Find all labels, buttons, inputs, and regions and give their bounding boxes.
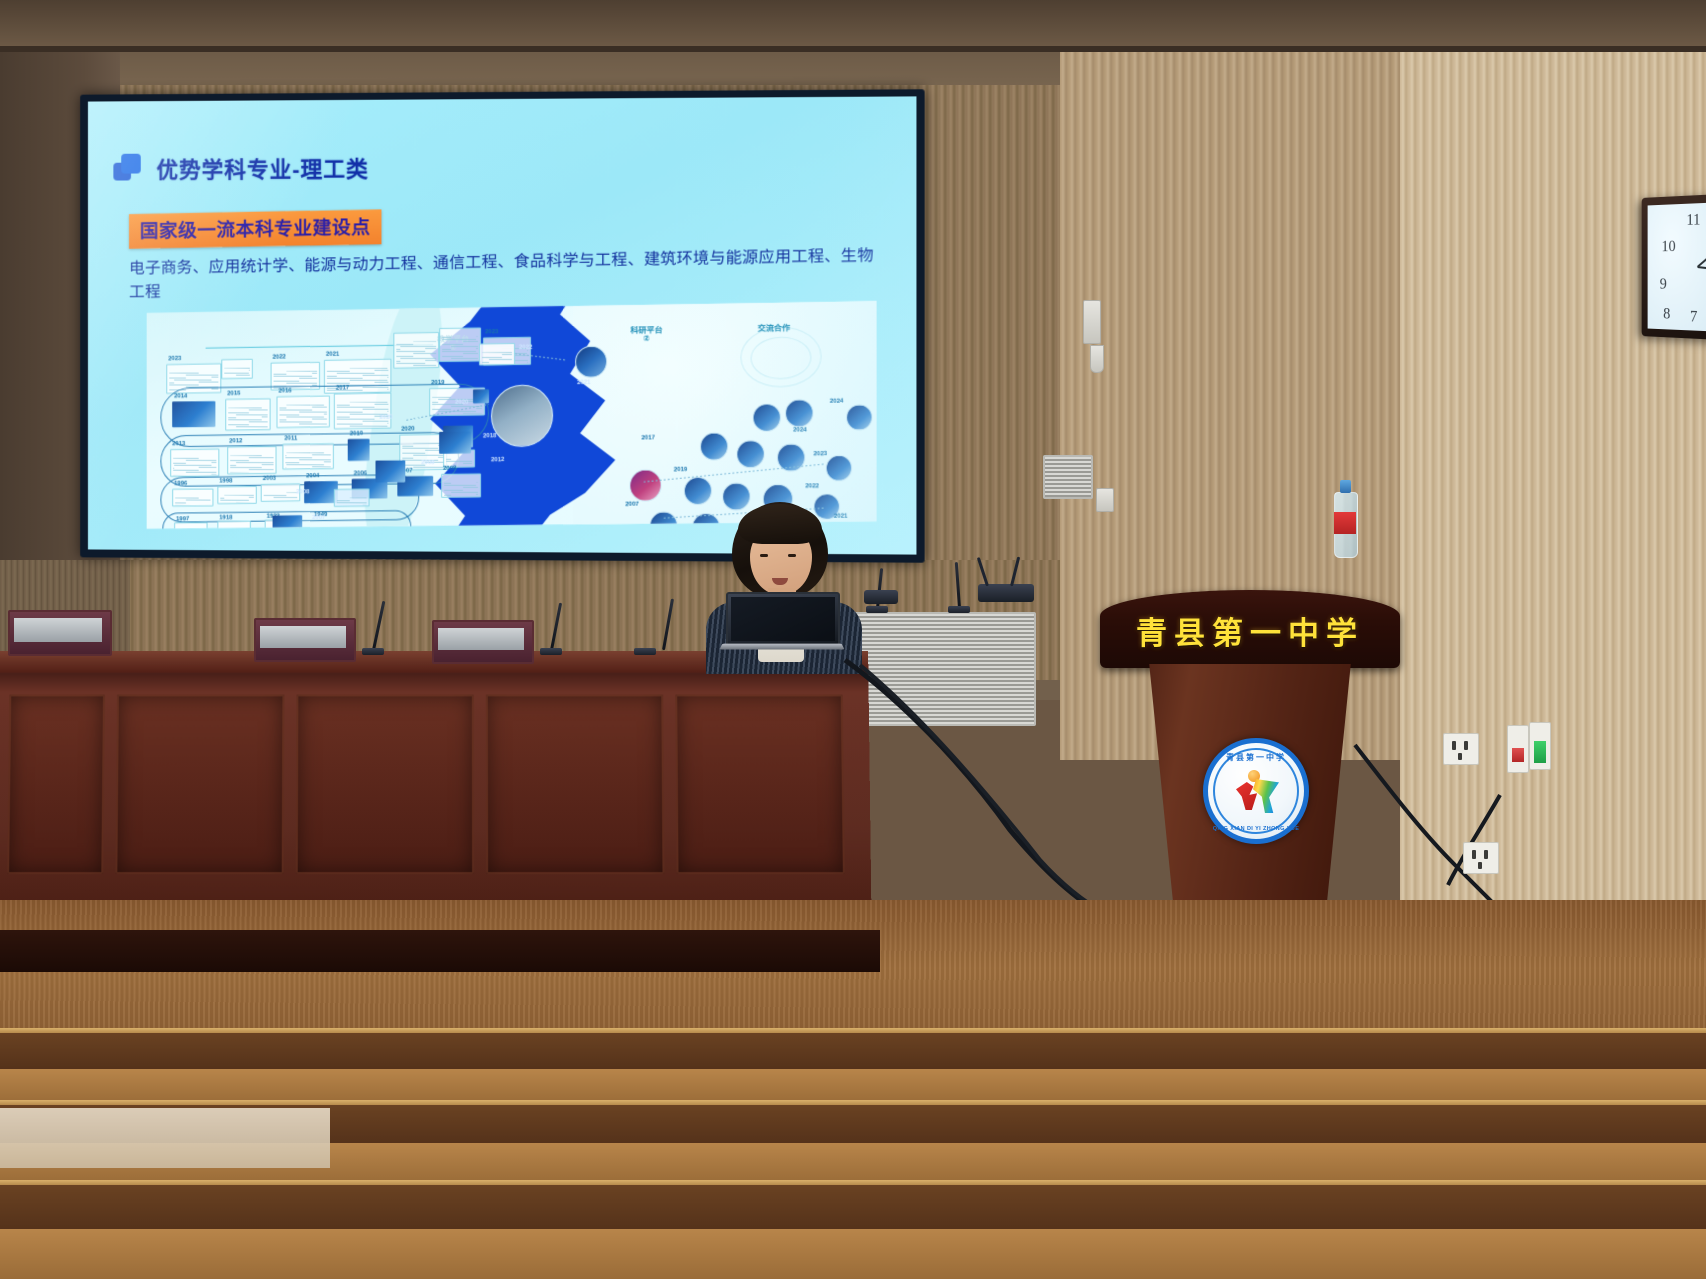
square-blocks-icon [113,154,142,184]
clock-number-9: 9 [1660,276,1667,294]
slide-header: 优势学科专业-理工类 [113,152,369,185]
step-tread-1 [0,1069,1706,1103]
clock-number-10: 10 [1661,238,1675,256]
section-label-research: 科研平台② [629,327,663,344]
clock-number-7: 7 [1690,308,1697,326]
seat-cushion-3 [438,628,524,650]
table-shadow-apron [0,930,880,972]
emblem-figure-icon [1234,770,1278,814]
presentation-slide: 优势学科专业-理工类 国家级一流本科专业建设点 电子商务、应用统计学、能源与动力… [88,96,916,554]
step-tread-3 [0,1229,1706,1279]
floor-light-patch [0,1108,330,1168]
projection-screen[interactable]: 优势学科专业-理工类 国家级一流本科专业建设点 电子商务、应用统计学、能源与动力… [80,89,924,562]
switch-plate-green[interactable] [1529,722,1551,770]
power-outlet-upper[interactable] [1443,733,1479,765]
wall-switch-plate[interactable] [1096,488,1114,512]
seat-cushion-1 [14,618,102,642]
emblem-arc-bottom-text: QING XIAN DI YI ZHONG XUE [1208,826,1304,832]
power-outlet-lower[interactable] [1463,842,1499,874]
clock-face: 11 10 9 8 7 [1648,202,1706,331]
slide-title: 优势学科专业-理工类 [156,152,368,185]
school-emblem: 青县第一中学 QING XIAN DI YI ZHONG XUE [1203,738,1309,844]
podium-school-name: 青县第一中学 [1100,608,1400,653]
water-bottle[interactable] [1334,478,1356,556]
switch-plate-red[interactable] [1507,725,1529,773]
clock-number-8: 8 [1663,306,1670,324]
timeline-infographic: 教学平台① 科研平台② 交流合作 2023 2022 2021 2023 201… [147,301,877,529]
microphone-base-1 [362,648,384,655]
ceiling-band [0,0,1706,48]
step-riser-3 [0,1185,1706,1229]
step-riser-1 [0,1033,1706,1069]
wall-slat-panel-far-right [1400,0,1706,940]
clock-number-11: 11 [1686,211,1700,230]
wall-sensor-lower [1090,345,1104,373]
wall-sensor [1083,300,1101,344]
slide-body-text: 电子商务、应用统计学、能源与动力工程、通信工程、食品科学与工程、建筑环境与能源应… [129,244,889,305]
microphone-base-3 [634,648,656,655]
wall-clock: 11 10 9 8 7 [1642,194,1706,340]
emblem-arc-top-text: 青县第一中学 [1208,752,1304,763]
slide-badge: 国家级一流本科专业建设点 [129,209,381,248]
section-label-exchange: 交流合作 [757,325,791,334]
microphone-base-2 [540,648,562,655]
microphone-base-5 [948,606,970,613]
lecture-hall-scene: 优势学科专业-理工类 国家级一流本科专业建设点 电子商务、应用统计学、能源与动力… [0,0,1706,1279]
network-router [978,584,1034,602]
presenter-laptop[interactable] [726,592,842,658]
ceiling-trim [0,46,1706,52]
podium-header-panel: 青县第一中学 [1100,590,1400,668]
seat-cushion-2 [260,626,346,648]
wall-vent-small [1043,455,1093,499]
